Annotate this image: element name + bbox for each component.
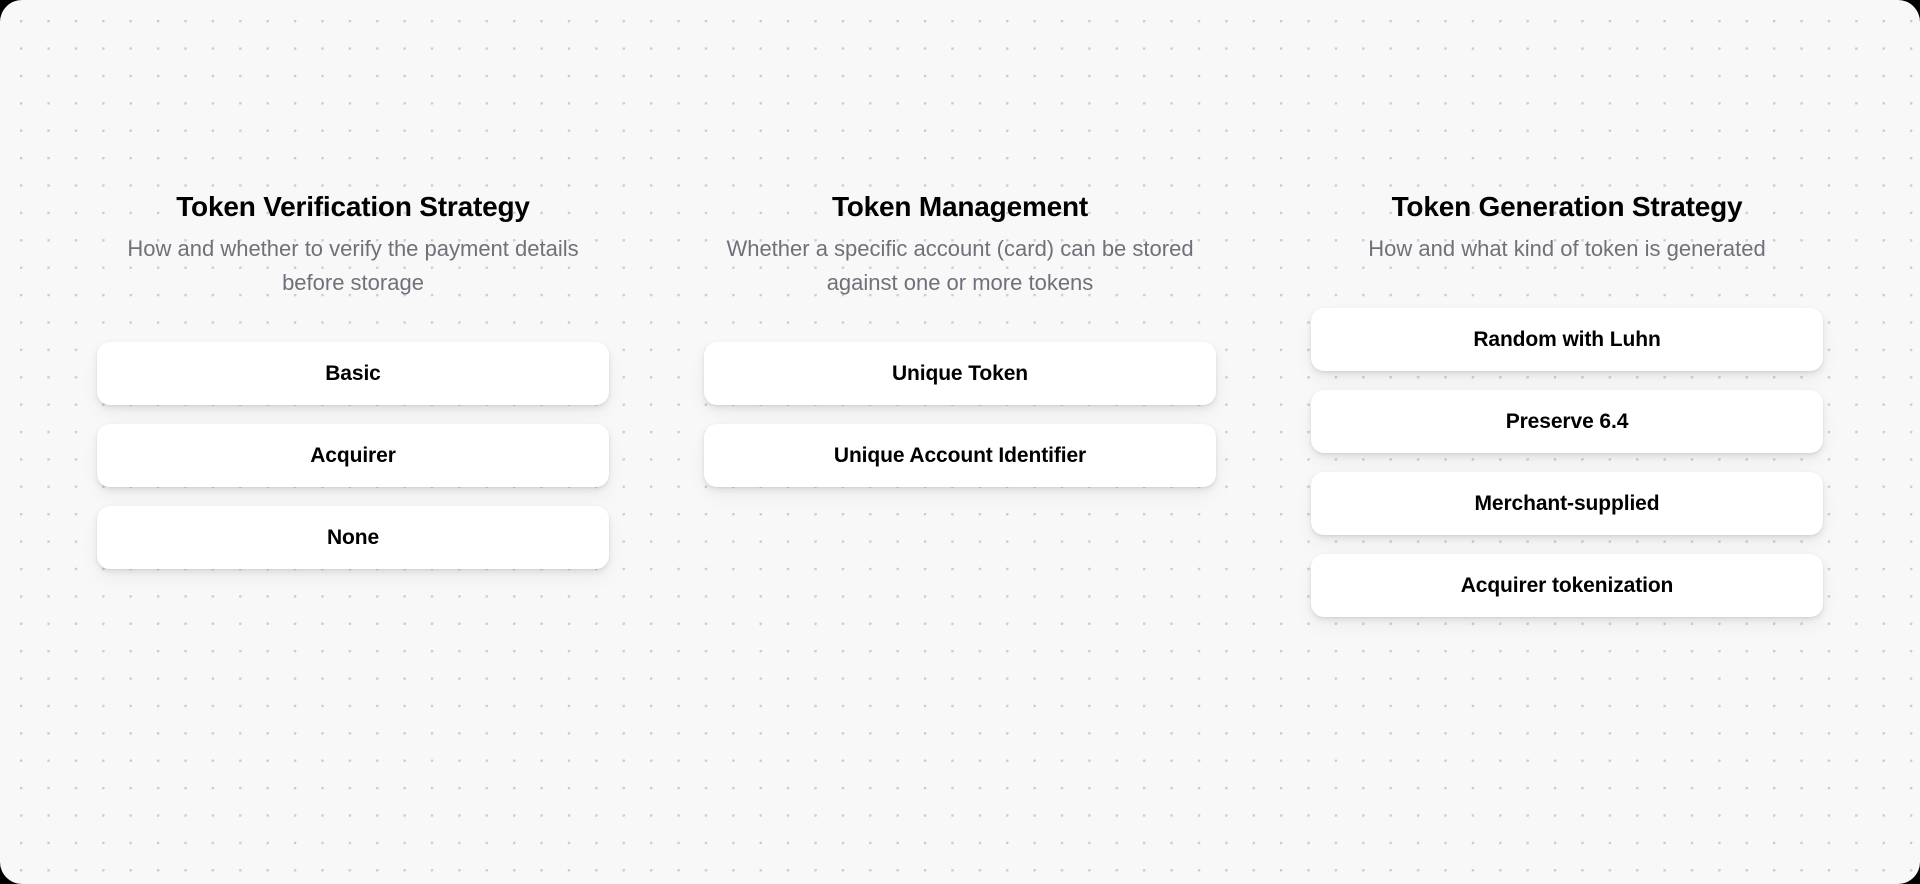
option-label: None <box>327 527 379 548</box>
option-card-basic[interactable]: Basic <box>97 342 609 405</box>
option-list: Random with Luhn Preserve 6.4 Merchant-s… <box>1311 308 1823 617</box>
option-card-acquirer[interactable]: Acquirer <box>97 424 609 487</box>
column-title: Token Management <box>712 190 1208 224</box>
column-title: Token Generation Strategy <box>1319 190 1815 224</box>
option-label: Preserve 6.4 <box>1506 411 1629 432</box>
option-card-unique-account-identifier[interactable]: Unique Account Identifier <box>704 424 1216 487</box>
column-header: Token Generation Strategy How and what k… <box>1311 190 1823 266</box>
page-canvas: Token Verification Strategy How and whet… <box>0 0 1920 884</box>
column-subtitle: How and what kind of token is generated <box>1319 232 1815 266</box>
option-label: Acquirer <box>310 445 396 466</box>
column-subtitle: Whether a specific account (card) can be… <box>712 232 1208 300</box>
option-card-preserve-6-4[interactable]: Preserve 6.4 <box>1311 390 1823 453</box>
option-card-none[interactable]: None <box>97 506 609 569</box>
option-label: Unique Account Identifier <box>834 445 1086 466</box>
option-label: Acquirer tokenization <box>1461 575 1674 596</box>
option-list: Unique Token Unique Account Identifier <box>704 342 1216 487</box>
option-card-merchant-supplied[interactable]: Merchant-supplied <box>1311 472 1823 535</box>
column-token-generation-strategy: Token Generation Strategy How and what k… <box>1311 190 1823 617</box>
column-header: Token Management Whether a specific acco… <box>704 190 1216 300</box>
option-label: Random with Luhn <box>1473 329 1660 350</box>
option-label: Unique Token <box>892 363 1028 384</box>
column-header: Token Verification Strategy How and whet… <box>97 190 609 300</box>
option-card-unique-token[interactable]: Unique Token <box>704 342 1216 405</box>
option-label: Merchant-supplied <box>1475 493 1660 514</box>
option-list: Basic Acquirer None <box>97 342 609 569</box>
column-subtitle: How and whether to verify the payment de… <box>105 232 601 300</box>
option-label: Basic <box>325 363 381 384</box>
column-title: Token Verification Strategy <box>105 190 601 224</box>
option-card-random-with-luhn[interactable]: Random with Luhn <box>1311 308 1823 371</box>
option-card-acquirer-tokenization[interactable]: Acquirer tokenization <box>1311 554 1823 617</box>
column-token-verification-strategy: Token Verification Strategy How and whet… <box>97 190 609 569</box>
strategy-columns: Token Verification Strategy How and whet… <box>97 190 1823 617</box>
column-token-management: Token Management Whether a specific acco… <box>704 190 1216 487</box>
